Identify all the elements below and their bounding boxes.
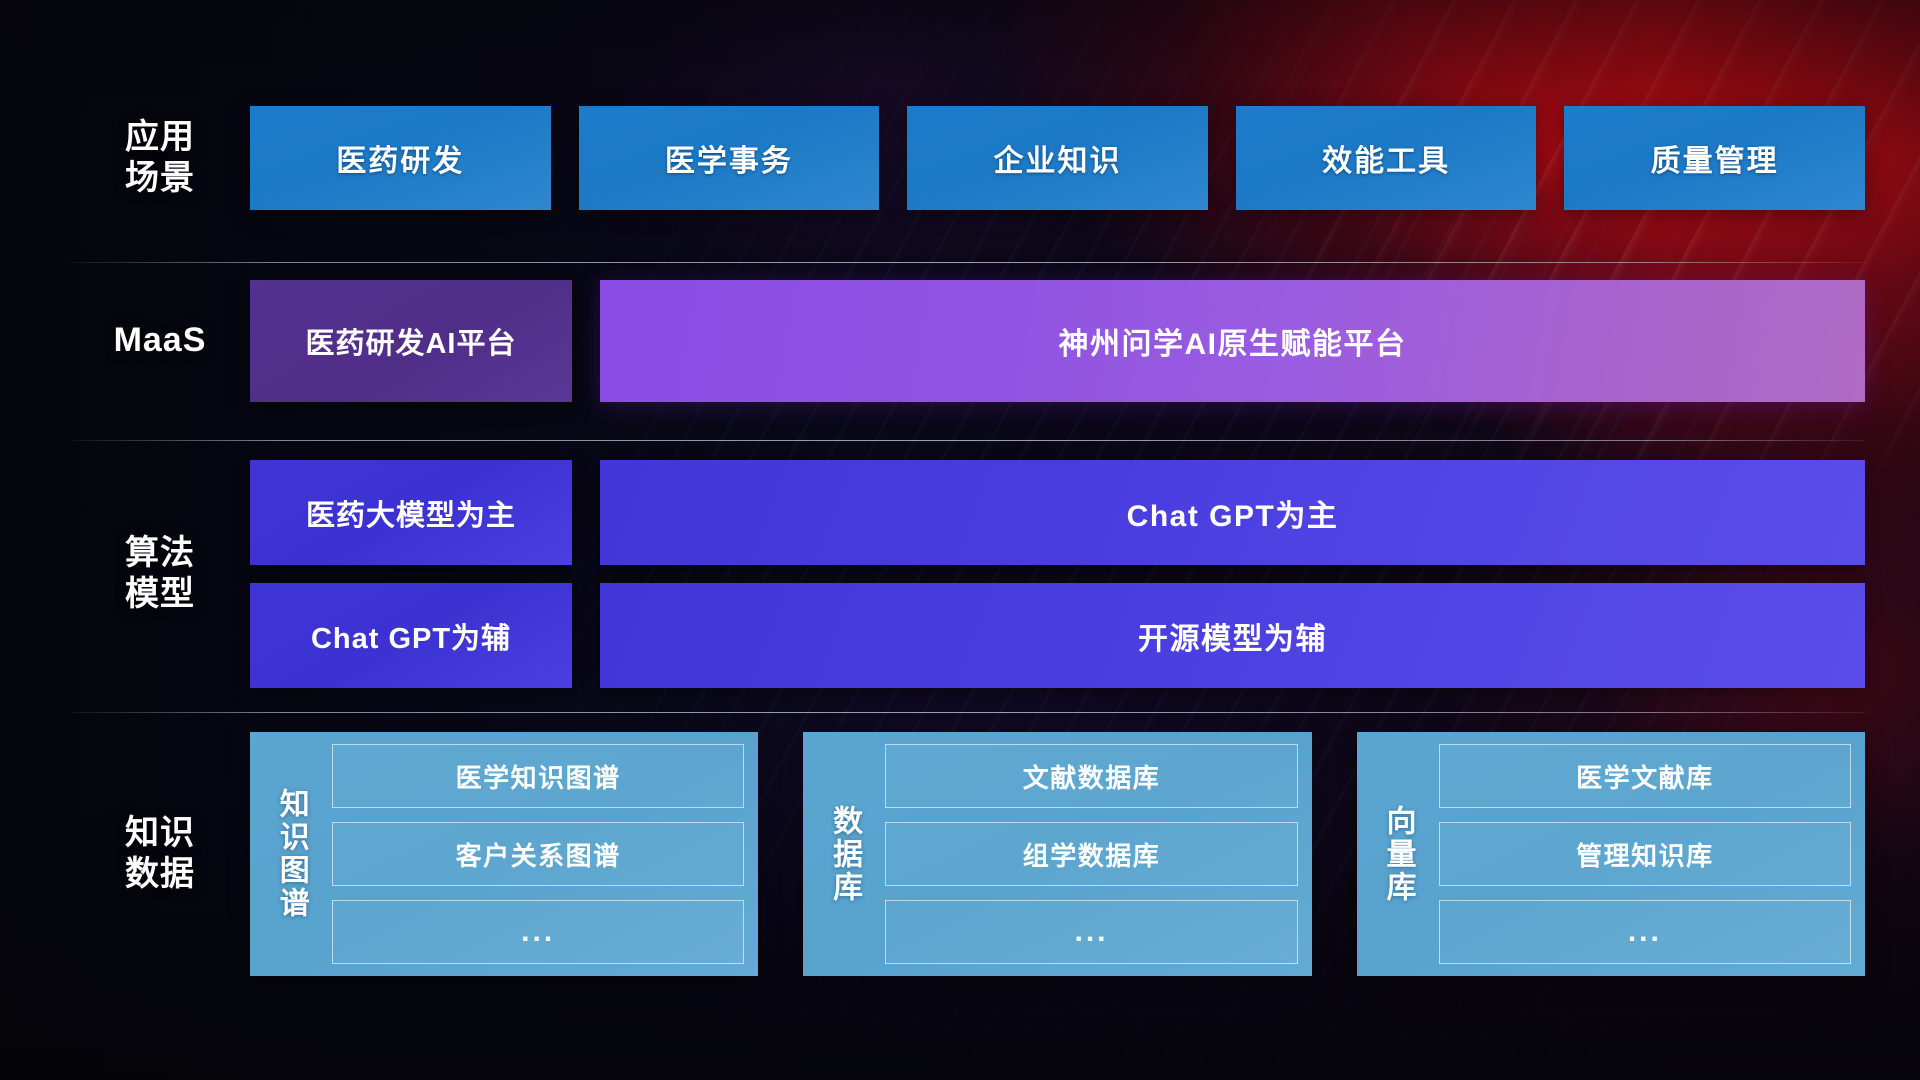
knowledge-group-label-vector-store: 向量库: [1367, 744, 1429, 964]
application-box-efficiency-tools[interactable]: 效能工具: [1236, 106, 1537, 210]
row-algorithm-models: 算法 模型 医药大模型为主 Chat GPT为主 Chat GPT为辅 开源模型…: [70, 460, 1865, 688]
algorithm-box-grid: 医药大模型为主 Chat GPT为主 Chat GPT为辅 开源模型为辅: [250, 460, 1865, 688]
knowledge-item-list-knowledge-graph: 医学知识图谱 客户关系图谱 ...: [332, 744, 744, 964]
layer-stack: 应用 场景 医药研发 医学事务 企业知识 效能工具 质量管理 MaaS 医药研发…: [0, 0, 1920, 1080]
algorithm-box-opensource-model-secondary[interactable]: 开源模型为辅: [600, 583, 1865, 688]
knowledge-item-list-database: 文献数据库 组学数据库 ...: [885, 744, 1297, 964]
knowledge-group-vector-store: 向量库 医学文献库 管理知识库 ...: [1357, 732, 1865, 976]
knowledge-item-omics-database[interactable]: 组学数据库: [885, 822, 1297, 886]
application-box-medical-affairs[interactable]: 医学事务: [579, 106, 880, 210]
knowledge-item-more-knowledge-graph[interactable]: ...: [332, 900, 744, 964]
knowledge-item-more-vector-store[interactable]: ...: [1439, 900, 1851, 964]
row-knowledge-data: 知识 数据 知识图谱 医学知识图谱 客户关系图谱 ... 数据库: [70, 730, 1865, 978]
knowledge-group-label-database: 数据库: [813, 744, 875, 964]
algorithm-line-primary: 医药大模型为主 Chat GPT为主: [250, 460, 1865, 565]
application-scenarios-body: 医药研发 医学事务 企业知识 效能工具 质量管理: [250, 106, 1865, 210]
divider-application-maas: [70, 262, 1865, 263]
knowledge-group-knowledge-graph: 知识图谱 医学知识图谱 客户关系图谱 ...: [250, 732, 758, 976]
row-label-knowledge-data: 知识 数据: [70, 813, 250, 896]
application-box-drug-rd[interactable]: 医药研发: [250, 106, 551, 210]
maas-body: 医药研发AI平台 神州问学AI原生赋能平台: [250, 280, 1865, 402]
maas-box-drug-rd-ai-platform[interactable]: 医药研发AI平台: [250, 280, 572, 402]
knowledge-item-more-database[interactable]: ...: [885, 900, 1297, 964]
knowledge-data-body: 知识图谱 医学知识图谱 客户关系图谱 ... 数据库 文献数据库 组学数据库 .…: [250, 732, 1865, 976]
application-box-enterprise-knowledge[interactable]: 企业知识: [907, 106, 1208, 210]
divider-maas-algorithm: [70, 440, 1865, 441]
knowledge-item-medical-knowledge-graph[interactable]: 医学知识图谱: [332, 744, 744, 808]
knowledge-item-medical-literature-store[interactable]: 医学文献库: [1439, 744, 1851, 808]
divider-algorithm-knowledge: [70, 712, 1865, 713]
row-maas: MaaS 医药研发AI平台 神州问学AI原生赋能平台: [70, 280, 1865, 402]
row-label-algorithm-models: 算法 模型: [70, 533, 250, 616]
knowledge-item-customer-relation-graph[interactable]: 客户关系图谱: [332, 822, 744, 886]
maas-box-grid: 医药研发AI平台 神州问学AI原生赋能平台: [250, 280, 1865, 402]
knowledge-item-literature-database[interactable]: 文献数据库: [885, 744, 1297, 808]
algorithm-box-chatgpt-primary[interactable]: Chat GPT为主: [600, 460, 1865, 565]
knowledge-group-label-knowledge-graph: 知识图谱: [260, 744, 322, 964]
knowledge-group-grid: 知识图谱 医学知识图谱 客户关系图谱 ... 数据库 文献数据库 组学数据库 .…: [250, 732, 1865, 976]
algorithm-line-secondary: Chat GPT为辅 开源模型为辅: [250, 583, 1865, 688]
knowledge-item-management-knowledge-store[interactable]: 管理知识库: [1439, 822, 1851, 886]
row-label-application-scenarios: 应用 场景: [70, 117, 250, 200]
knowledge-group-database: 数据库 文献数据库 组学数据库 ...: [803, 732, 1311, 976]
application-box-quality-management[interactable]: 质量管理: [1564, 106, 1865, 210]
application-box-grid: 医药研发 医学事务 企业知识 效能工具 质量管理: [250, 106, 1865, 210]
maas-box-shenzhou-wenxue-platform[interactable]: 神州问学AI原生赋能平台: [600, 280, 1865, 402]
knowledge-item-list-vector-store: 医学文献库 管理知识库 ...: [1439, 744, 1851, 964]
algorithm-models-body: 医药大模型为主 Chat GPT为主 Chat GPT为辅 开源模型为辅: [250, 460, 1865, 688]
algorithm-box-chatgpt-secondary[interactable]: Chat GPT为辅: [250, 583, 572, 688]
algorithm-box-pharma-large-model-primary[interactable]: 医药大模型为主: [250, 460, 572, 565]
row-application-scenarios: 应用 场景 医药研发 医学事务 企业知识 效能工具 质量管理: [70, 100, 1865, 216]
architecture-diagram-canvas: 应用 场景 医药研发 医学事务 企业知识 效能工具 质量管理 MaaS 医药研发…: [0, 0, 1920, 1080]
row-label-maas: MaaS: [70, 320, 250, 361]
